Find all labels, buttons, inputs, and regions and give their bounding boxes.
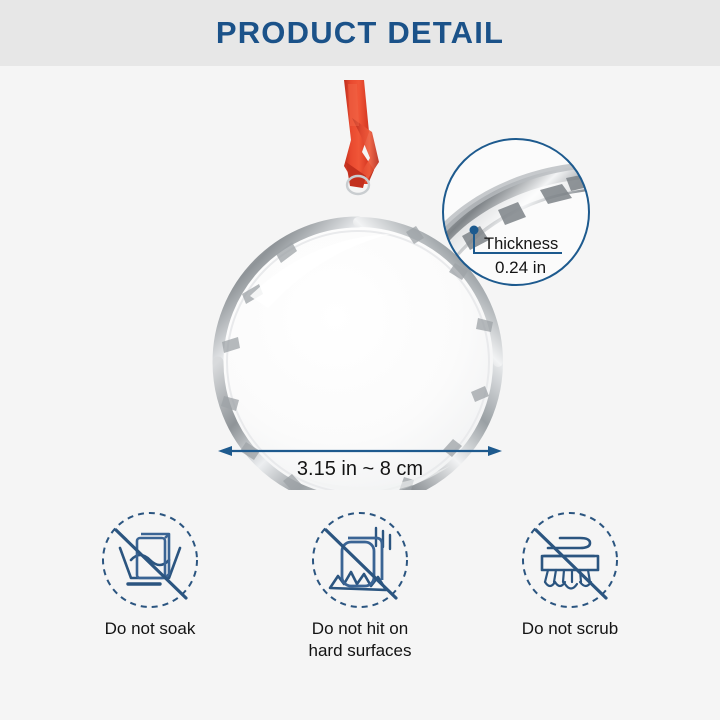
care-item-do-not-hit: Do not hit on hard surfaces (250, 500, 470, 690)
page-title: PRODUCT DETAIL (0, 0, 720, 66)
thickness-label: Thickness (484, 235, 558, 253)
care-caption: Do not hit on hard surfaces (250, 618, 470, 662)
product-detail-page: PRODUCT DETAIL (0, 0, 720, 720)
callout-anchor-dot (470, 226, 479, 235)
no-hit-hard-surface-icon (304, 504, 416, 616)
care-item-do-not-scrub: Do not scrub (460, 500, 680, 690)
care-caption: Do not scrub (460, 618, 680, 640)
thickness-value: 0.24 in (495, 258, 546, 277)
care-instructions-row: Do not soak (0, 500, 720, 690)
care-item-do-not-soak: Do not soak (40, 500, 260, 690)
glass-disc (218, 222, 498, 490)
no-soak-icon (94, 504, 206, 616)
product-image-stage: Thickness 0.24 in (0, 66, 720, 490)
ribbon (344, 80, 379, 188)
no-scrub-icon (514, 504, 626, 616)
ornament-illustration: Thickness 0.24 in (0, 66, 720, 490)
diameter-dimension-label: 3.15 in ~ 8 cm (160, 458, 560, 481)
care-caption: Do not soak (40, 618, 260, 640)
